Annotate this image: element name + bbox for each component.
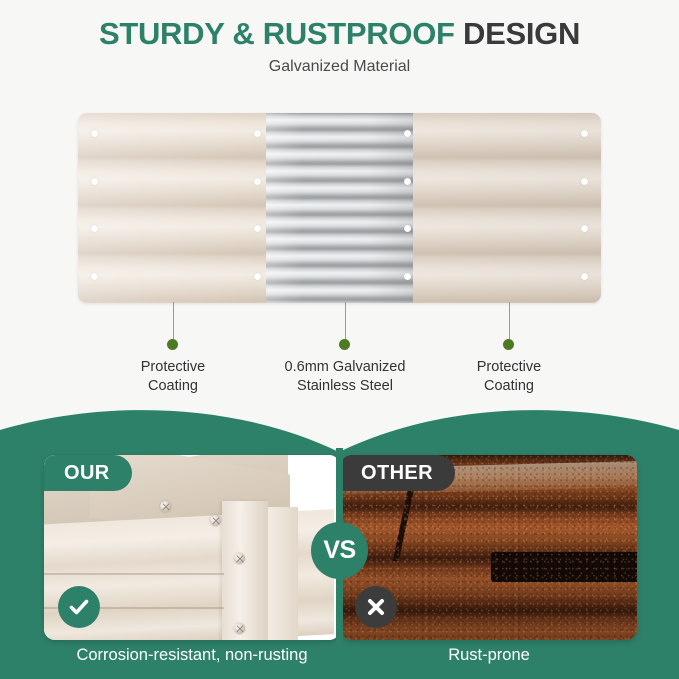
title-rest: DESIGN: [463, 16, 580, 51]
panel-edge-line: [44, 573, 224, 575]
title-highlight: STURDY & RUSTPROOF: [99, 16, 455, 51]
beige-corrugation-left: [78, 113, 266, 303]
callout-protective-coating-left: Protective Coating: [73, 345, 273, 396]
infographic-root: STURDY & RUSTPROOF DESIGN Galvanized Mat…: [0, 0, 679, 679]
beige-corrugation-right: [413, 113, 601, 303]
page-title: STURDY & RUSTPROOF DESIGN: [0, 15, 679, 53]
screw-hole: [581, 225, 588, 232]
vs-badge: VS: [311, 522, 368, 579]
check-icon: [58, 586, 100, 628]
steel-panel: [78, 113, 601, 303]
garden-bed-corner-post-side: [268, 507, 298, 640]
panel-right-coating: [413, 113, 601, 303]
comparison-cards: OUR OTHER: [0, 400, 679, 679]
tag-other: OTHER: [341, 455, 455, 491]
card-our[interactable]: OUR: [44, 455, 340, 640]
screw-hole: [581, 130, 588, 137]
screw-icon: [234, 623, 245, 634]
card-other[interactable]: OTHER: [341, 455, 637, 640]
callout-line-1: Protective: [409, 358, 609, 377]
screw-hole: [404, 178, 411, 185]
silver-corrugation: [266, 113, 413, 303]
screw-icon: [210, 515, 221, 526]
callout-line-1: Protective: [73, 358, 273, 377]
screw-hole: [254, 178, 261, 185]
callout-protective-coating-right: Protective Coating: [409, 345, 609, 396]
screw-hole: [91, 130, 98, 137]
screw-hole: [91, 178, 98, 185]
callout-dot-icon: [167, 339, 178, 350]
panel-illustration: [78, 113, 601, 303]
screw-hole: [254, 273, 261, 280]
callout-dot-icon: [503, 339, 514, 350]
screw-icon: [160, 501, 171, 512]
screw-hole: [254, 130, 261, 137]
comparison-banner: OUR OTHER: [0, 400, 679, 679]
page-subtitle: Galvanized Material: [0, 56, 679, 78]
caption-other: Rust-prone: [341, 646, 637, 665]
screw-hole: [404, 273, 411, 280]
screw-hole: [404, 130, 411, 137]
screw-icon: [234, 553, 245, 564]
screw-hole: [404, 225, 411, 232]
screw-hole: [581, 178, 588, 185]
callout-text: Protective Coating: [73, 358, 273, 396]
callout-dot-icon: [339, 339, 350, 350]
screw-hole: [254, 225, 261, 232]
callout-line-2: Coating: [409, 377, 609, 396]
caption-our: Corrosion-resistant, non-rusting: [44, 646, 340, 665]
garden-bed-corner-post: [222, 501, 268, 640]
top-section: STURDY & RUSTPROOF DESIGN Galvanized Mat…: [0, 0, 679, 425]
callout-text: Protective Coating: [409, 358, 609, 396]
screw-hole: [91, 225, 98, 232]
callout-line-2: Coating: [73, 377, 273, 396]
panel-galvanized-core: [266, 113, 413, 303]
cross-icon: [355, 586, 397, 628]
screw-hole: [581, 273, 588, 280]
panel-left-coating: [78, 113, 266, 303]
tag-our: OUR: [44, 455, 132, 491]
screw-hole: [91, 273, 98, 280]
